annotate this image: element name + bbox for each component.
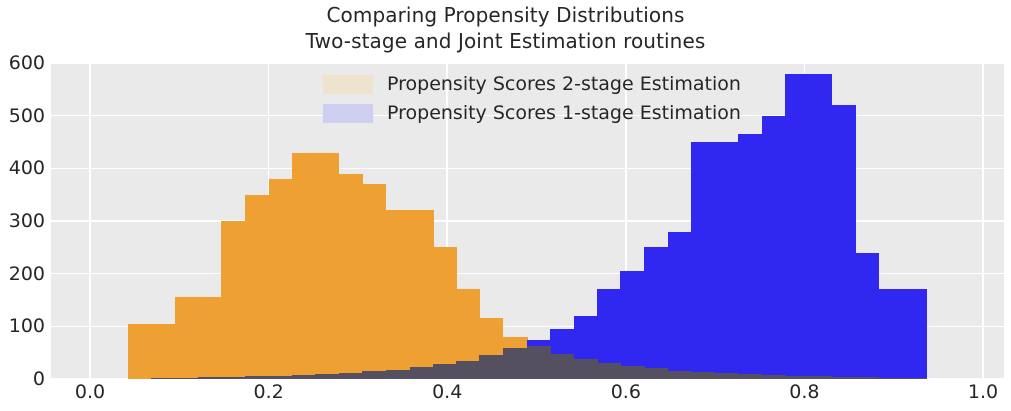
histogram-bar [785, 74, 809, 379]
histogram-bar [151, 324, 175, 379]
histogram-bar-overlap [574, 359, 598, 379]
y-tick-label: 100 [1, 317, 45, 336]
histogram-bar [315, 153, 339, 379]
histogram-bar [644, 247, 668, 379]
histogram-bar [433, 247, 457, 379]
histogram-bar [855, 253, 879, 379]
histogram-bar [691, 142, 715, 379]
legend-item-1stage: Propensity Scores 1-stage Estimation [323, 101, 741, 126]
gridline-horizontal [51, 220, 1004, 222]
histogram-bar-overlap [315, 374, 339, 379]
histogram-bar-overlap [714, 373, 738, 379]
chart-title-block: Comparing Propensity Distributions Two-s… [0, 2, 1011, 54]
chart-figure: Comparing Propensity Distributions Two-s… [0, 0, 1011, 411]
histogram-bar-overlap [410, 367, 434, 379]
histogram-bar-overlap [245, 376, 269, 379]
histogram-bar-overlap [620, 366, 644, 379]
legend-label-1stage: Propensity Scores 1-stage Estimation [387, 103, 741, 124]
y-tick-label: 200 [1, 265, 45, 284]
histogram-bar [903, 289, 927, 379]
histogram-bar [198, 297, 222, 379]
histogram-bar-overlap [269, 376, 293, 379]
chart-title: Comparing Propensity Distributions [326, 3, 684, 27]
legend-swatch-2stage [323, 75, 373, 94]
histogram-bar [668, 232, 692, 379]
histogram-bar [714, 142, 738, 379]
histogram-bar [362, 184, 386, 379]
gridline-horizontal [51, 63, 1004, 64]
histogram-bar [832, 105, 856, 379]
histogram-bar [292, 153, 316, 379]
histogram-bar-overlap [221, 377, 245, 379]
gridline-horizontal [51, 168, 1004, 170]
histogram-bar [245, 195, 269, 379]
histogram-bar [879, 289, 903, 379]
y-tick-label: 600 [1, 54, 45, 73]
histogram-bar-overlap [433, 364, 457, 379]
y-tick-label: 300 [1, 212, 45, 231]
histogram-bar-overlap [198, 377, 222, 379]
histogram-bar-overlap [175, 378, 199, 379]
histogram-bar [386, 210, 410, 379]
x-tick-label: 1.0 [948, 383, 1011, 402]
histogram-bar [738, 134, 762, 379]
histogram-bar-overlap [808, 376, 832, 379]
y-tick-label: 500 [1, 107, 45, 126]
x-tick-label: 0.0 [55, 383, 125, 402]
chart-legend: Propensity Scores 2-stage Estimation Pro… [319, 70, 745, 128]
histogram-bar-overlap [855, 377, 879, 379]
x-tick-label: 0.2 [234, 383, 304, 402]
gridline-vertical [89, 63, 91, 379]
histogram-bar [808, 74, 832, 379]
histogram-bar-overlap [668, 371, 692, 379]
histogram-bar-overlap [151, 378, 175, 379]
x-tick-label: 0.8 [769, 383, 839, 402]
histogram-bar-overlap [292, 375, 316, 379]
histogram-bar-overlap [785, 376, 809, 379]
histogram-bar-overlap [903, 378, 927, 379]
chart-subtitle: Two-stage and Joint Estimation routines [0, 28, 1011, 54]
histogram-bar [620, 271, 644, 379]
histogram-bar-overlap [597, 363, 621, 379]
histogram-bar-overlap [339, 373, 363, 379]
histogram-bar [269, 179, 293, 379]
legend-item-2stage: Propensity Scores 2-stage Estimation [323, 72, 741, 97]
histogram-bar-overlap [479, 355, 503, 379]
x-tick-label: 0.6 [591, 383, 661, 402]
histogram-bar [221, 221, 245, 379]
y-axis-ticks: 0100200300400500600 [0, 0, 45, 411]
y-tick-label: 0 [1, 370, 45, 389]
x-tick-label: 0.4 [412, 383, 482, 402]
histogram-bar [762, 116, 786, 379]
histogram-bar [128, 324, 152, 379]
histogram-bar [175, 297, 199, 379]
histogram-bar-overlap [550, 354, 574, 379]
histogram-bar-overlap [738, 374, 762, 379]
gridline-vertical [982, 63, 984, 379]
histogram-bar-overlap [503, 348, 527, 379]
histogram-bar-overlap [762, 375, 786, 379]
histogram-bar-overlap [527, 346, 551, 379]
y-tick-label: 400 [1, 159, 45, 178]
histogram-bar [410, 210, 434, 379]
legend-swatch-1stage [323, 104, 373, 123]
legend-label-2stage: Propensity Scores 2-stage Estimation [387, 74, 741, 95]
histogram-bar-overlap [644, 368, 668, 379]
histogram-bar-overlap [362, 371, 386, 379]
histogram-bar-overlap [456, 361, 480, 379]
histogram-bar-overlap [879, 378, 903, 379]
histogram-bar-overlap [386, 370, 410, 379]
histogram-bar-overlap [691, 372, 715, 379]
histogram-bar [339, 174, 363, 379]
histogram-bar-overlap [832, 377, 856, 379]
